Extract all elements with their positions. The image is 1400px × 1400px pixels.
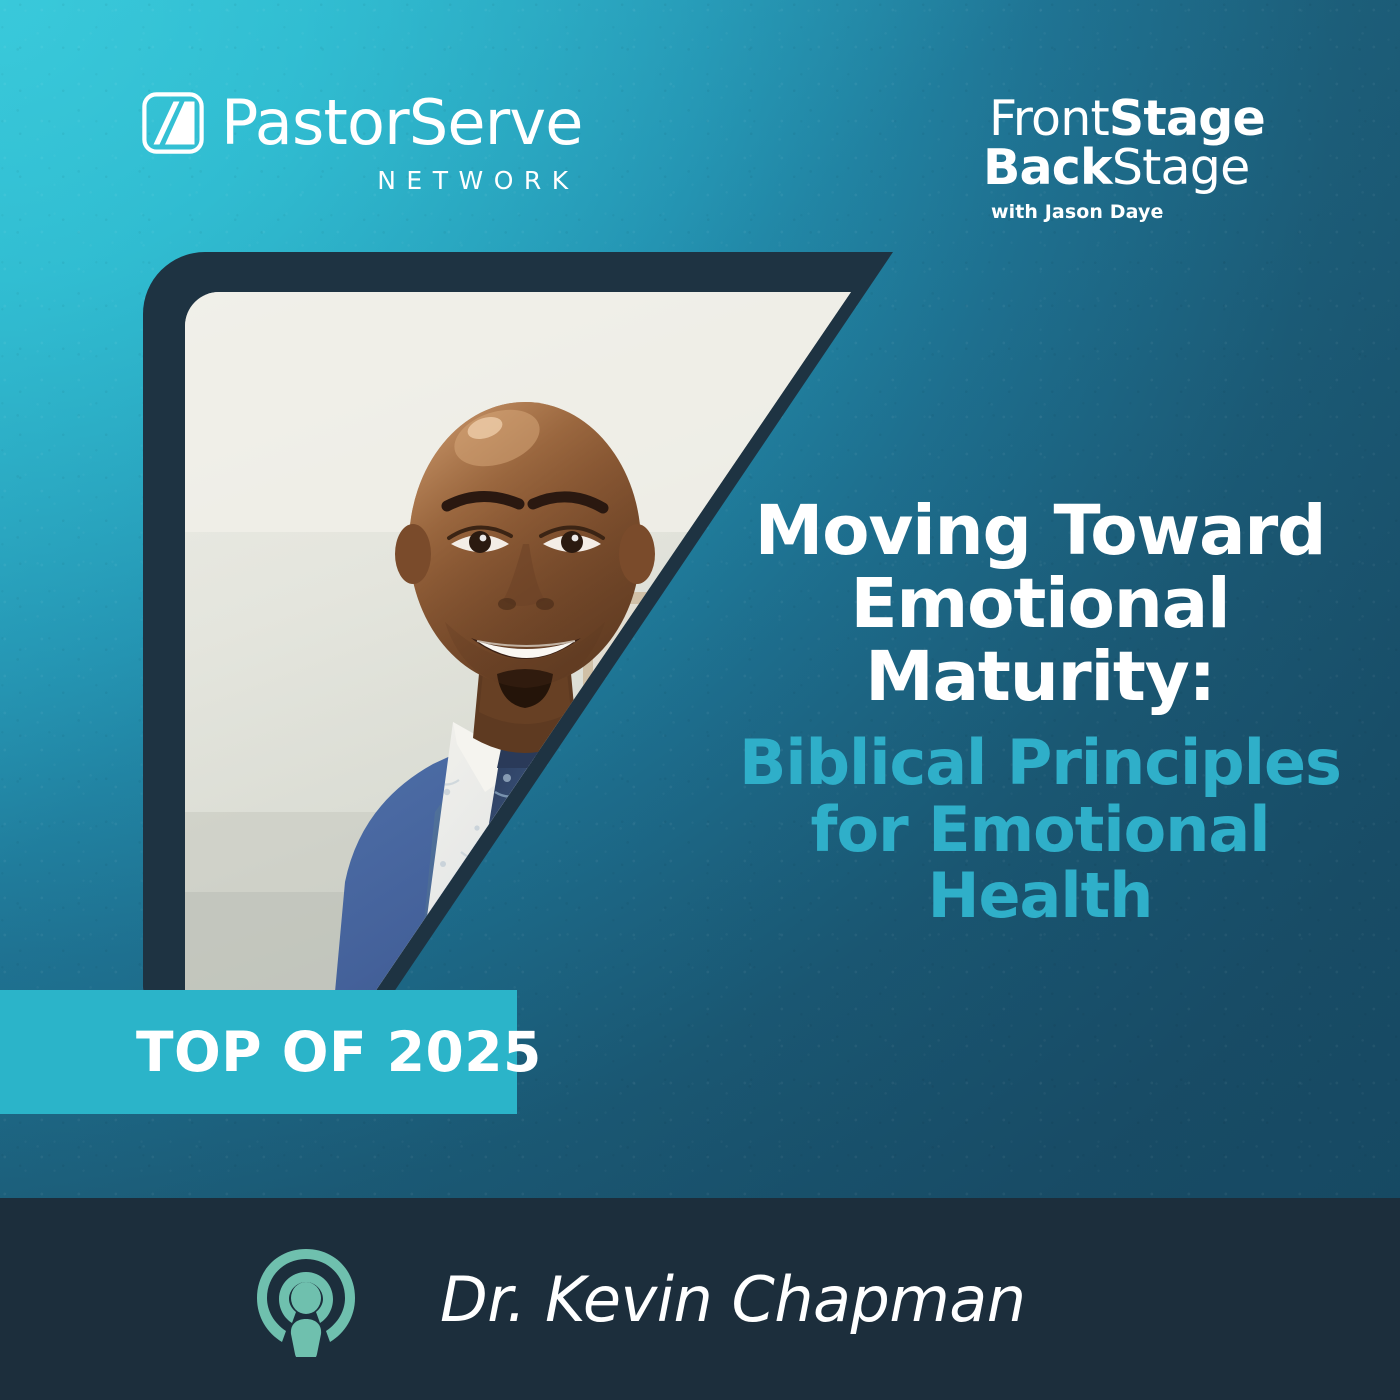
footer-bar: Dr. Kevin Chapman [0, 1198, 1400, 1400]
episode-subtitle-line1: Biblical Principles [710, 730, 1370, 796]
badge-label: TOP OF 2025 [136, 1020, 542, 1084]
podcast-cover-art: PastorServe NETWORK FrontStage BackStage… [0, 0, 1400, 1400]
episode-subtitle: Biblical Principles for Emotional Health [710, 730, 1370, 929]
episode-title-block: Moving Toward Emotional Maturity: Biblic… [710, 495, 1370, 929]
guest-name: Dr. Kevin Chapman [440, 1263, 1026, 1336]
tie-bar [485, 904, 559, 913]
top-of-2025-badge: TOP OF 2025 [0, 990, 517, 1114]
episode-title: Moving Toward Emotional Maturity: [710, 495, 1370, 714]
lapel-pin [588, 783, 622, 817]
podcast-microphone-icon [248, 1241, 364, 1357]
episode-title-line1: Moving Toward [710, 495, 1370, 568]
episode-subtitle-line2: for Emotional [710, 797, 1370, 863]
episode-title-line2: Emotional [710, 568, 1370, 641]
episode-subtitle-line3: Health [710, 863, 1370, 929]
episode-title-line3: Maturity: [710, 641, 1370, 714]
